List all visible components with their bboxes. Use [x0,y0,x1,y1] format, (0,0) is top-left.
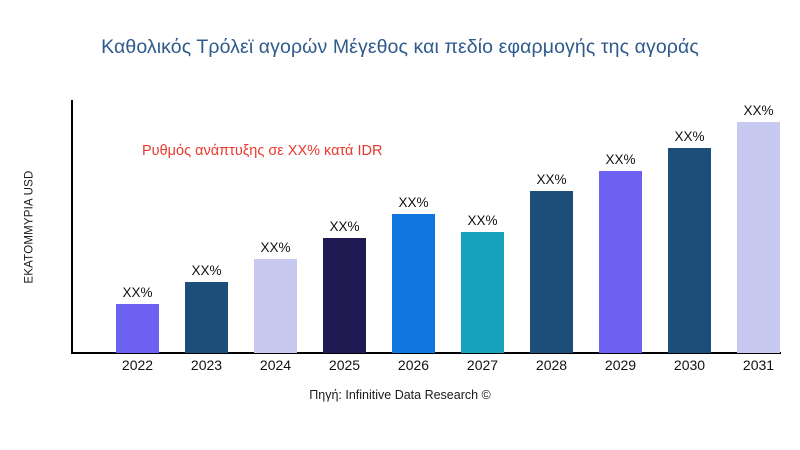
x-tick-label: 2027 [448,357,517,373]
bar[interactable] [737,122,780,353]
x-tick-label: 2031 [724,357,793,373]
source-caption: Πηγή: Infinitive Data Research © [0,388,800,402]
x-tick-label: 2029 [586,357,655,373]
bar-value-label: XX% [448,213,517,228]
x-tick-label: 2030 [655,357,724,373]
bar-group: XX% [724,100,793,353]
bar-value-label: XX% [724,103,793,118]
bar-value-label: XX% [172,263,241,278]
bar-value-label: XX% [310,219,379,234]
bar-group: XX% [379,100,448,353]
plot-area: XX%XX%XX%XX%XX%XX%XX%XX%XX%XX% [71,100,781,353]
bar[interactable] [668,148,711,353]
x-tick-label: 2024 [241,357,310,373]
bar-group: XX% [448,100,517,353]
bar-group: XX% [586,100,655,353]
chart-container: Καθολικός Τρόλεϊ αγορών Μέγεθος και πεδί… [0,0,800,450]
y-axis-label-wrapper: ΕΚΑΤΟΜΜΥΡΙΑ USD [0,100,60,353]
y-axis-label: ΕΚΑΤΟΜΜΥΡΙΑ USD [24,170,36,283]
x-tick-label: 2026 [379,357,448,373]
bar-group: XX% [103,100,172,353]
bar[interactable] [185,282,228,353]
bar[interactable] [254,259,297,353]
bar[interactable] [461,232,504,353]
bar-value-label: XX% [241,240,310,255]
x-tick-label: 2022 [103,357,172,373]
bar-value-label: XX% [103,285,172,300]
bar[interactable] [323,238,366,353]
bar-value-label: XX% [517,172,586,187]
bar-value-label: XX% [655,129,724,144]
bar[interactable] [116,304,159,353]
bar-group: XX% [310,100,379,353]
x-tick-label: 2028 [517,357,586,373]
x-tick-label: 2025 [310,357,379,373]
bar[interactable] [599,171,642,353]
bar-value-label: XX% [379,195,448,210]
chart-title: Καθολικός Τρόλεϊ αγορών Μέγεθος και πεδί… [0,36,800,59]
x-tick-label: 2023 [172,357,241,373]
bar-group: XX% [172,100,241,353]
bar-group: XX% [241,100,310,353]
bar[interactable] [392,214,435,353]
growth-rate-annotation: Ρυθμός ανάπτυξης σε XX% κατά IDR [142,143,382,159]
bar-group: XX% [655,100,724,353]
bar-group: XX% [517,100,586,353]
bar[interactable] [530,191,573,353]
bar-value-label: XX% [586,152,655,167]
x-axis-tick-labels: 2022202320242025202620272028202920302031 [71,357,781,379]
